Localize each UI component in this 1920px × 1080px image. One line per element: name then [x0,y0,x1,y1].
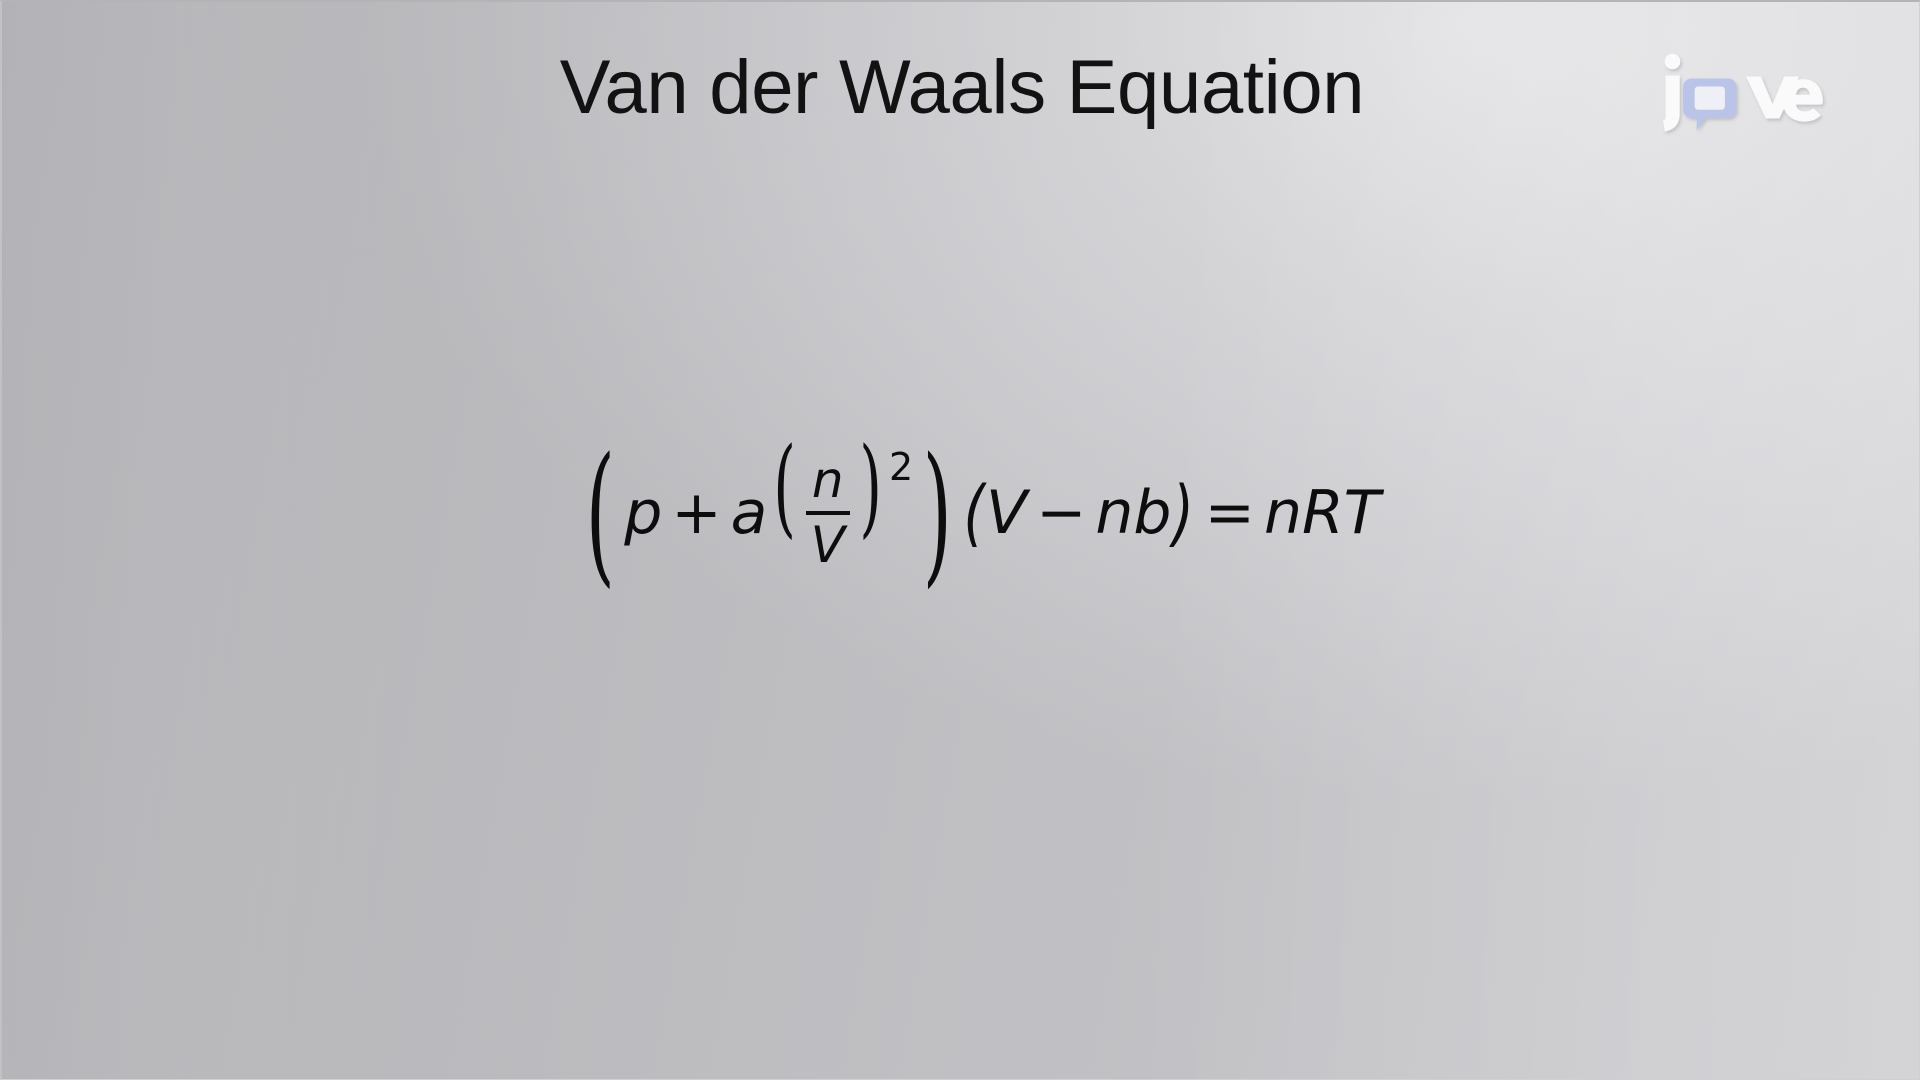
moles-symbol: n [1095,483,1133,543]
volume-term-close-paren: ) [1173,477,1194,549]
volume-symbol: V [986,483,1027,543]
slide-canvas: Van der Waals Equation ( p + a ( n V ) 2… [0,0,1920,1080]
jove-logo-j-stem [1663,76,1680,132]
attraction-constant-a: a [731,483,768,543]
page-title: Van der Waals Equation [2,50,1920,126]
jove-logo [1654,46,1840,136]
jove-logo-j-dot [1665,54,1681,70]
jove-logo-letter-e [1783,79,1823,122]
outer-close-paren: ) [923,437,952,589]
jove-logo-o-bubble-inner [1695,87,1725,110]
fraction-denominator: V [806,519,850,572]
density-squared-group: ( n V ) 2 [767,454,913,572]
plus-operator: + [662,483,730,543]
minus-operator: − [1027,483,1095,543]
pressure-symbol: p [624,483,662,543]
exponent-two: 2 [889,448,913,486]
fraction-numerator: n [807,454,849,507]
van-der-waals-equation: ( p + a ( n V ) 2 ) ( V − n b ) [576,454,1381,572]
moles-over-volume-fraction: n V [803,454,853,572]
outer-open-paren: ( [585,437,614,589]
fraction-close-paren: ) [859,434,881,592]
fraction-open-paren: ( [774,434,796,592]
fraction-bar [806,511,850,515]
volume-constant-b: b [1133,483,1171,543]
equals-operator: = [1196,483,1264,543]
equation-block: ( p + a ( n V ) 2 ) ( V − n b ) [2,454,1920,572]
right-side-nrt: nRT [1264,483,1380,543]
volume-term-open-paren: ( [963,477,984,549]
